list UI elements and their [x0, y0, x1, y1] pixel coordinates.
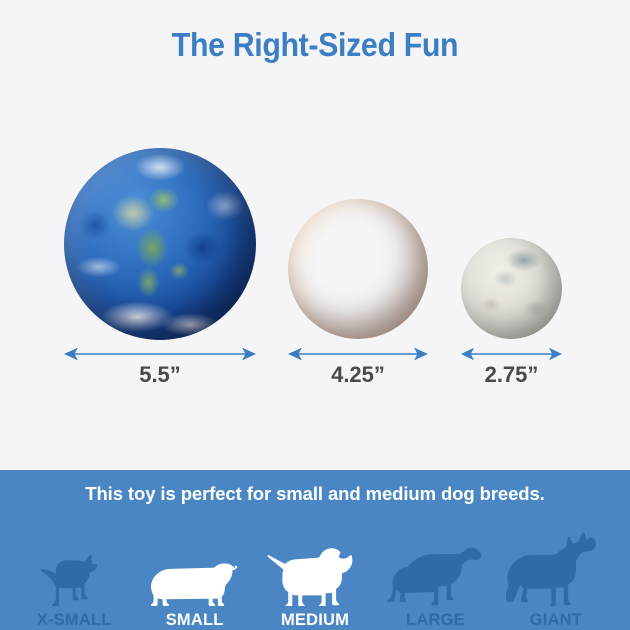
great-dane-dog-icon — [506, 544, 606, 606]
bull-terrier-dog-icon — [267, 544, 363, 606]
breed-item-large[interactable]: LARGE — [375, 516, 495, 630]
size-label-earth: 5.5” — [64, 362, 256, 388]
size-label-moon: 2.75” — [461, 362, 562, 388]
measure-earth — [64, 347, 256, 361]
measure-moon — [461, 347, 562, 361]
breed-item-medium[interactable]: MEDIUM — [255, 516, 375, 630]
dog-breed-size-banner: This toy is perfect for small and medium… — [0, 470, 630, 630]
mars-planet-ball[interactable] — [288, 199, 428, 339]
double-arrow-icon — [64, 347, 256, 361]
dachshund-dog-icon — [149, 544, 241, 606]
breed-label-large: LARGE — [406, 611, 465, 630]
breed-label-x-small: X-SMALL — [37, 611, 112, 630]
earth-planet-ball[interactable] — [64, 148, 256, 340]
moon-planet-ball[interactable] — [461, 238, 562, 339]
page-title: The Right-Sized Fun — [25, 26, 605, 64]
measure-mars — [288, 347, 428, 361]
double-arrow-icon — [288, 347, 428, 361]
breed-label-small: SMALL — [166, 611, 224, 630]
breed-item-small[interactable]: SMALL — [134, 516, 254, 630]
breed-item-x-small[interactable]: X-SMALL — [14, 516, 134, 630]
breed-size-row: X-SMALL SMALL MEDIUM — [0, 516, 630, 630]
retriever-dog-icon — [385, 544, 485, 606]
breed-label-medium: MEDIUM — [281, 611, 349, 630]
size-label-mars: 4.25” — [288, 362, 428, 388]
chihuahua-dog-icon — [38, 544, 110, 606]
double-arrow-icon — [461, 347, 562, 361]
breed-item-giant[interactable]: GIANT — [496, 516, 616, 630]
banner-headline: This toy is perfect for small and medium… — [0, 483, 630, 505]
breed-label-giant: GIANT — [530, 611, 582, 630]
product-size-comparison-section: The Right-Sized Fun 5.5” 4.25” 2.75” — [0, 0, 630, 470]
